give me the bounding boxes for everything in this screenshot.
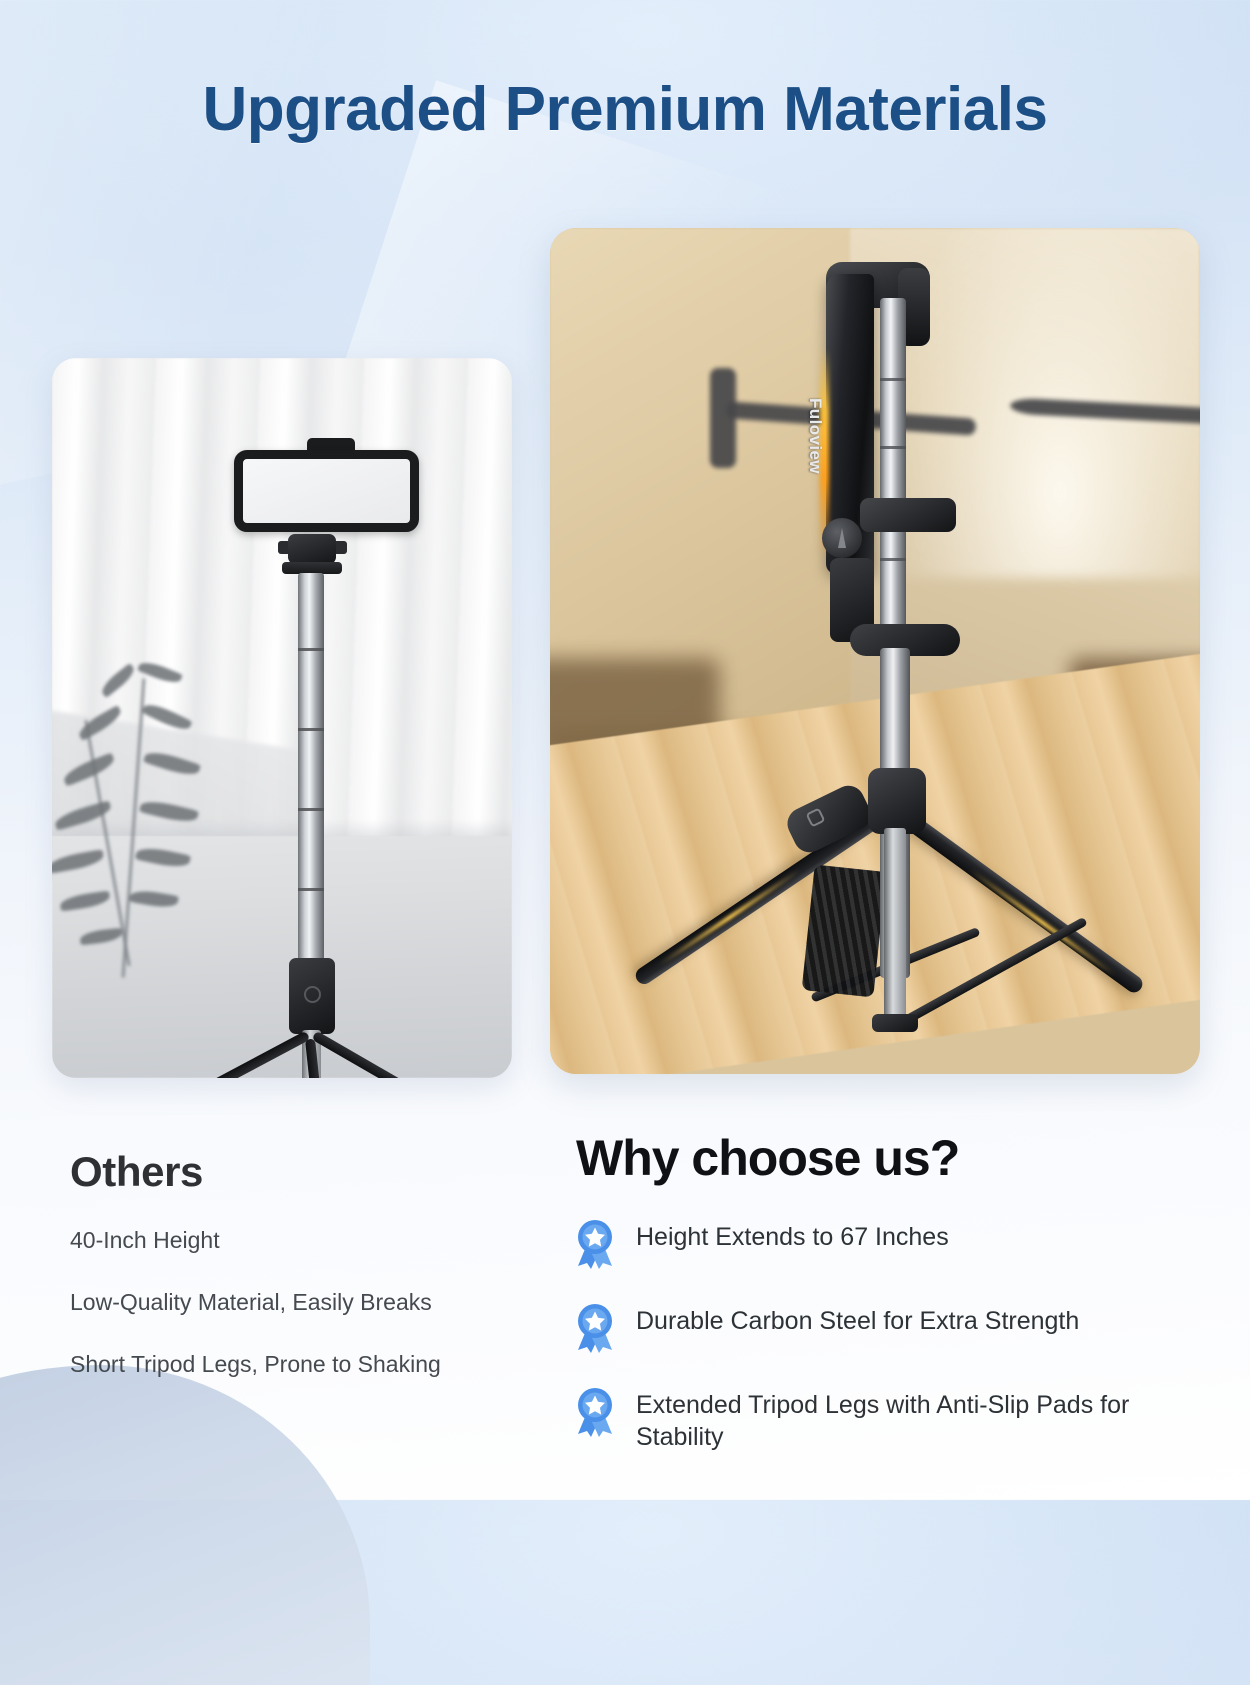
why-choose-us-heading: Why choose us?: [576, 1129, 959, 1187]
leg-highlight-right: [969, 868, 1117, 977]
anti-slip-pad-legs: [802, 865, 887, 998]
page-title: Upgraded Premium Materials: [0, 74, 1250, 145]
leg-highlight-left: [658, 868, 801, 966]
competitor-scene: [52, 358, 512, 1078]
featured-product-image-card: Fuloview: [550, 228, 1200, 1074]
pole-lock-ring-upper: [860, 498, 956, 532]
list-item: Extended Tripod Legs with Anti-Slip Pads…: [572, 1384, 1222, 1453]
lower-center-column: [884, 828, 906, 1028]
benefit-text: Extended Tripod Legs with Anti-Slip Pads…: [636, 1384, 1222, 1453]
featured-tripod-product: Fuloview: [550, 228, 1200, 1074]
competitor-product-image-card: [52, 358, 512, 1078]
background-corner-curve: [0, 1365, 370, 1685]
list-item: 40-Inch Height: [70, 1226, 500, 1256]
upper-extension-pole: [880, 298, 906, 628]
benefit-text: Height Extends to 67 Inches: [636, 1216, 949, 1253]
others-drawback-list: 40-Inch Height Low-Quality Material, Eas…: [70, 1226, 500, 1412]
award-ribbon-icon: [572, 1302, 618, 1354]
competitor-tripod-product: [52, 358, 512, 1078]
award-ribbon-icon: [572, 1218, 618, 1270]
center-column-foot: [872, 1014, 918, 1032]
list-item: Durable Carbon Steel for Extra Strength: [572, 1300, 1222, 1354]
others-heading: Others: [70, 1148, 203, 1196]
award-ribbon-icon: [572, 1386, 618, 1438]
list-item: Short Tripod Legs, Prone to Shaking: [70, 1350, 500, 1380]
brand-label: Fuloview: [805, 398, 825, 518]
benefit-text: Durable Carbon Steel for Extra Strength: [636, 1300, 1079, 1337]
list-item: Low-Quality Material, Easily Breaks: [70, 1288, 500, 1318]
featured-scene: Fuloview: [550, 228, 1200, 1074]
tripod-brace-right: [900, 917, 1088, 1027]
tripod-leg-hub: [868, 768, 926, 834]
benefit-list: Height Extends to 67 Inches Durable Carb…: [572, 1216, 1222, 1483]
list-item: Height Extends to 67 Inches: [572, 1216, 1222, 1270]
